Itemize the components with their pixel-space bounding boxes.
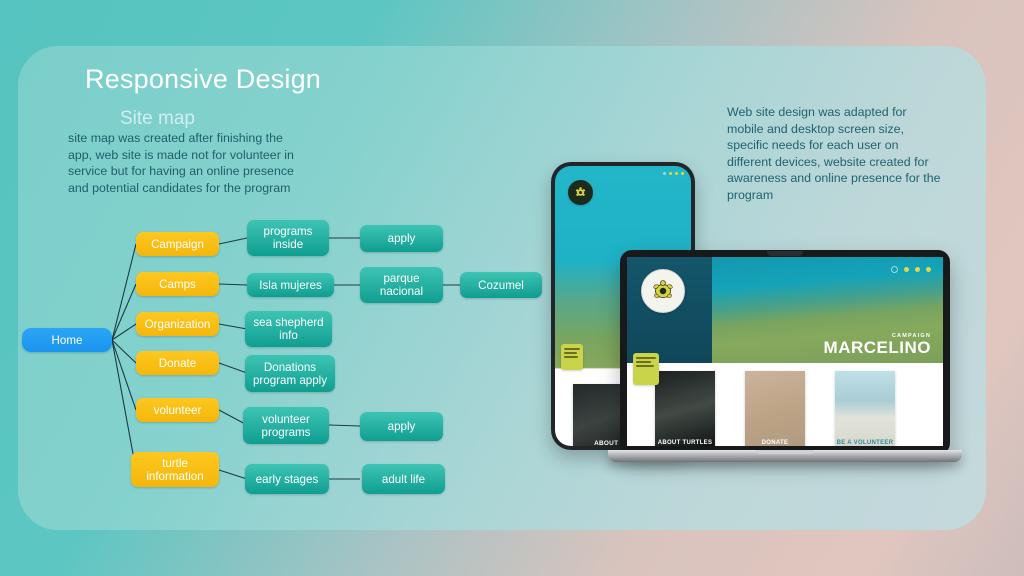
sitemap-node-adult-life[interactable]: adult life [362, 464, 445, 494]
hero-carousel-dots[interactable] [891, 266, 931, 273]
device-mockups: ABOUT TURTLES [525, 150, 995, 510]
website-card-about-turtles[interactable]: ABOUT TURTLES [655, 371, 715, 446]
sitemap-node-early-stages[interactable]: early stages [245, 464, 329, 494]
website-hero: CAMPAIGN MARCELINO [627, 257, 943, 363]
sitemap-node-volunteer[interactable]: volunteer [136, 398, 219, 422]
laptop-camera-notch [767, 251, 803, 256]
sitemap-node-donate[interactable]: Donate [136, 351, 219, 375]
laptop-base [608, 450, 962, 462]
hero-title: MARCELINO [824, 339, 931, 357]
website-card-donate[interactable]: DONATE [745, 371, 805, 446]
card-caption: BE A VOLUNTEER [835, 440, 895, 446]
sitemap-node-home[interactable]: Home [22, 328, 112, 352]
laptop-lid: CAMPAIGN MARCELINO ABOUT TURTLES DONATE [620, 250, 950, 455]
website-card-be-a-volunteer[interactable]: BE A VOLUNTEER [835, 371, 895, 446]
hero-text: CAMPAIGN MARCELINO [824, 333, 931, 357]
sitemap-node-organization[interactable]: Organization [136, 312, 219, 336]
website-card-row: ABOUT TURTLES DONATE BE A VOLUNTEER [627, 363, 943, 446]
laptop-screen: CAMPAIGN MARCELINO ABOUT TURTLES DONATE [627, 257, 943, 446]
card-caption: DONATE [745, 440, 805, 446]
sitemap-node-donations-program-apply[interactable]: Donations program apply [245, 355, 335, 392]
sitemap-node-camps[interactable]: Camps [136, 272, 219, 296]
phone-menu-tab[interactable] [561, 344, 583, 370]
sitemap-node-campaign[interactable]: Campaign [136, 232, 219, 256]
sitemap-diagram: Home Campaign Camps Organization Donate … [0, 0, 560, 576]
phone-carousel-dots[interactable] [663, 172, 684, 175]
sitemap-node-turtle-information[interactable]: turtle information [131, 452, 219, 487]
sitemap-node-sea-shepherd-info[interactable]: sea shepherd info [245, 311, 332, 347]
laptop-menu-tab[interactable] [633, 353, 659, 385]
laptop-mockup: CAMPAIGN MARCELINO ABOUT TURTLES DONATE [620, 250, 950, 480]
card-caption: ABOUT TURTLES [655, 440, 715, 446]
sitemap-node-parque-nacional[interactable]: parque nacional [360, 267, 443, 303]
laptop-base-notch [756, 450, 814, 454]
turtle-logo-icon [641, 269, 685, 313]
sitemap-node-programs-inside[interactable]: programs inside [247, 220, 329, 256]
sitemap-node-isla-mujeres[interactable]: Isla mujeres [247, 273, 334, 297]
sitemap-node-apply-volunteer[interactable]: apply [360, 412, 443, 441]
sitemap-node-volunteer-programs[interactable]: volunteer programs [243, 407, 329, 444]
sitemap-node-apply-campaign[interactable]: apply [360, 225, 443, 252]
turtle-logo-icon [568, 180, 593, 205]
